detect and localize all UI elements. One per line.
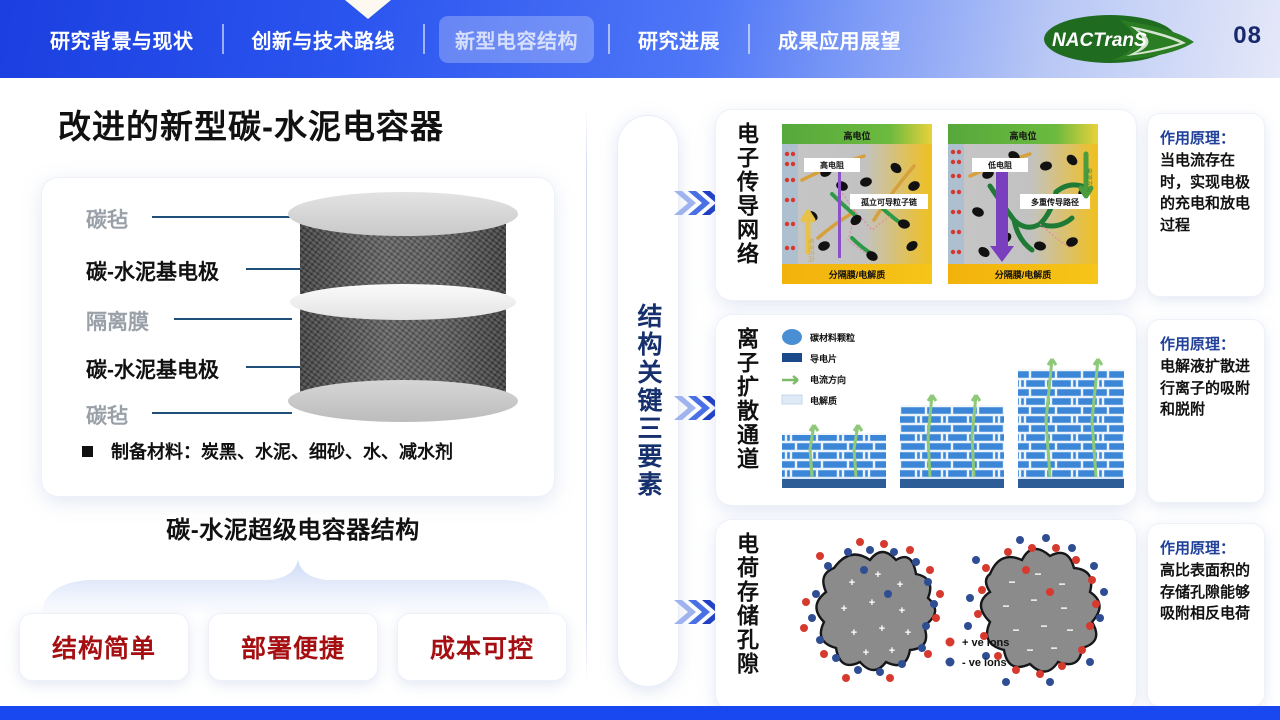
note-head: 作用原理： [1160, 128, 1254, 150]
capacitor-structure-card: 碳毡 碳-水泥基电极 隔离膜 碳-水泥基电极 碳毡 制备材料：炭黑、水泥、细砂、… [42, 178, 554, 496]
capacitor-caption: 碳-水泥超级电容器结构 [0, 510, 586, 545]
bottom-accent-bar [0, 706, 1280, 720]
panel-ion-diffusion: 离子扩散通道 碳材料颗粒 导电片 [716, 315, 1136, 505]
svg-text:−: − [1030, 593, 1037, 607]
benefit-card-simple-structure[interactable]: 结构简单 [20, 614, 188, 680]
svg-text:电流方向: 电流方向 [810, 374, 846, 385]
disc-carbon-felt-top [288, 192, 518, 236]
nav-item-progress[interactable]: 研究进展 [624, 17, 734, 62]
nav-separator [222, 24, 224, 54]
svg-text:孤立可导粒子链: 孤立可导粒子链 [861, 197, 918, 207]
column-divider [586, 104, 587, 684]
svg-text:+ ve ions: + ve ions [962, 637, 1009, 649]
nav-item-application-outlook[interactable]: 成果应用展望 [764, 17, 915, 62]
materials-line: 制备材料：炭黑、水泥、细砂、水、减水剂 [82, 438, 453, 464]
disc-separator [290, 284, 516, 320]
stack-label-carbon-felt-top: 碳毡 [86, 204, 128, 234]
svg-text:+: + [875, 569, 881, 581]
svg-text:+: + [849, 577, 855, 589]
stack-label-electrode-bottom: 碳-水泥基电极 [86, 354, 219, 384]
svg-text:+: + [863, 647, 869, 659]
svg-text:−: − [1050, 641, 1057, 655]
nav-separator [608, 24, 610, 54]
svg-text:+: + [879, 623, 885, 635]
svg-text:−: − [1066, 623, 1073, 637]
stack-label-separator: 隔离膜 [86, 306, 149, 336]
svg-text:分隔膜/电解质: 分隔膜/电解质 [829, 269, 886, 280]
stack-label-carbon-felt-bottom: 碳毡 [86, 400, 128, 430]
svg-text:+: + [869, 597, 875, 609]
figure-ion-diffusion: 碳材料颗粒 导电片 电流方向 电解质 [778, 325, 1128, 495]
note-head: 作用原理： [1160, 538, 1254, 560]
svg-text:+: + [897, 579, 903, 591]
nav-notch-triangle-icon [345, 0, 391, 19]
svg-text:−: − [1040, 619, 1047, 633]
svg-text:−: − [1026, 643, 1033, 657]
leader-line [152, 412, 292, 414]
svg-text:+: + [841, 603, 847, 615]
svg-text:+: + [899, 605, 905, 617]
nav-item-innovation[interactable]: 创新与技术路线 [238, 17, 410, 62]
svg-text:高电阻: 高电阻 [820, 160, 844, 170]
nav-separator [748, 24, 750, 54]
benefits-row: 结构简单 部署便捷 成本可控 [20, 614, 566, 680]
page-title: 改进的新型碳-水泥电容器 [58, 100, 444, 148]
page-number: 08 [1233, 22, 1262, 50]
benefit-card-controllable-cost[interactable]: 成本可控 [398, 614, 566, 680]
svg-text:+: + [905, 627, 911, 639]
materials-text: 制备材料：炭黑、水泥、细砂、水、减水剂 [111, 438, 453, 464]
nav-item-capacitor-structure[interactable]: 新型电容结构 [439, 16, 594, 63]
svg-text:电流方向: 电流方向 [807, 238, 815, 262]
svg-text:NACTranS: NACTranS [1052, 30, 1147, 51]
svg-text:多重传导路径: 多重传导路径 [1031, 197, 1079, 207]
svg-text:电流方向: 电流方向 [1085, 168, 1093, 192]
bullet-square-icon [82, 446, 93, 457]
disc-carbon-felt-bottom [288, 380, 518, 422]
svg-text:+: + [851, 627, 857, 639]
note-body: 当电流存在时，实现电极的充电和放电过程 [1160, 150, 1254, 237]
leader-line [174, 318, 292, 320]
svg-text:分隔膜/电解质: 分隔膜/电解质 [995, 269, 1052, 280]
panel-title-ion-diffusion: 离子扩散通道 [730, 327, 762, 493]
key-factors-pill: 结构关键三要素 [618, 116, 678, 686]
top-navigation-bar: 研究背景与现状 创新与技术路线 新型电容结构 研究进展 成果应用展望 NACTr… [0, 0, 1280, 78]
svg-text:+: + [889, 645, 895, 657]
leader-line [152, 216, 290, 218]
key-factors-label: 结构关键三要素 [630, 303, 666, 499]
note-card-charge-storage: 作用原理： 高比表面积的存储孔隙能够吸附相反电荷 [1148, 524, 1264, 706]
stack-label-electrode-top: 碳-水泥基电极 [86, 256, 219, 286]
nav-item-background[interactable]: 研究背景与现状 [36, 17, 208, 62]
brand-logo: NACTranS [1042, 12, 1202, 66]
note-card-ion-diffusion: 作用原理： 电解液扩散进行离子的吸附和脱附 [1148, 320, 1264, 502]
svg-text:−: − [1034, 567, 1041, 581]
figure-electron-conduction: 高电位 分隔膜/电解质 [778, 120, 1128, 290]
svg-text:电解质: 电解质 [810, 395, 837, 406]
svg-text:高电位: 高电位 [843, 130, 870, 141]
svg-text:−: − [1008, 575, 1015, 589]
capacitor-stack-illustration [288, 192, 518, 464]
svg-text:导电片: 导电片 [810, 353, 837, 364]
svg-text:- ve ions: - ve ions [962, 657, 1007, 669]
note-head: 作用原理： [1160, 334, 1254, 356]
panel-title-charge-storage: 电荷存储孔隙 [730, 532, 762, 698]
svg-text:高电位: 高电位 [1009, 130, 1036, 141]
panel-electron-conduction: 电子传导网络 [716, 110, 1136, 300]
svg-text:−: − [1060, 601, 1067, 615]
svg-text:碳材料颗粒: 碳材料颗粒 [810, 332, 855, 343]
panel-title-electron-conduction: 电子传导网络 [730, 122, 762, 288]
panel-charge-storage: 电荷存储孔隙 +++ +++ +++ ++ [716, 520, 1136, 710]
nav-separator [423, 24, 425, 54]
left-column: 改进的新型碳-水泥电容器 碳毡 碳-水泥基电极 隔离膜 碳-水泥基电极 碳毡 [0, 78, 586, 706]
svg-text:−: − [1002, 599, 1009, 613]
figure-charge-storage: +++ +++ +++ ++ [778, 530, 1128, 700]
note-body: 高比表面积的存储孔隙能够吸附相反电荷 [1160, 560, 1254, 625]
benefit-card-easy-deployment[interactable]: 部署便捷 [209, 614, 377, 680]
bracket-connector [36, 558, 556, 616]
slide-root: 研究背景与现状 创新与技术路线 新型电容结构 研究进展 成果应用展望 NACTr… [0, 0, 1280, 720]
svg-text:低电阻: 低电阻 [987, 160, 1012, 170]
nav-item-list: 研究背景与现状 创新与技术路线 新型电容结构 研究进展 成果应用展望 [36, 16, 915, 63]
note-card-electron-conduction: 作用原理： 当电流存在时，实现电极的充电和放电过程 [1148, 114, 1264, 296]
svg-text:−: − [1058, 577, 1065, 591]
svg-text:−: − [1012, 623, 1019, 637]
note-body: 电解液扩散进行离子的吸附和脱附 [1160, 356, 1254, 421]
